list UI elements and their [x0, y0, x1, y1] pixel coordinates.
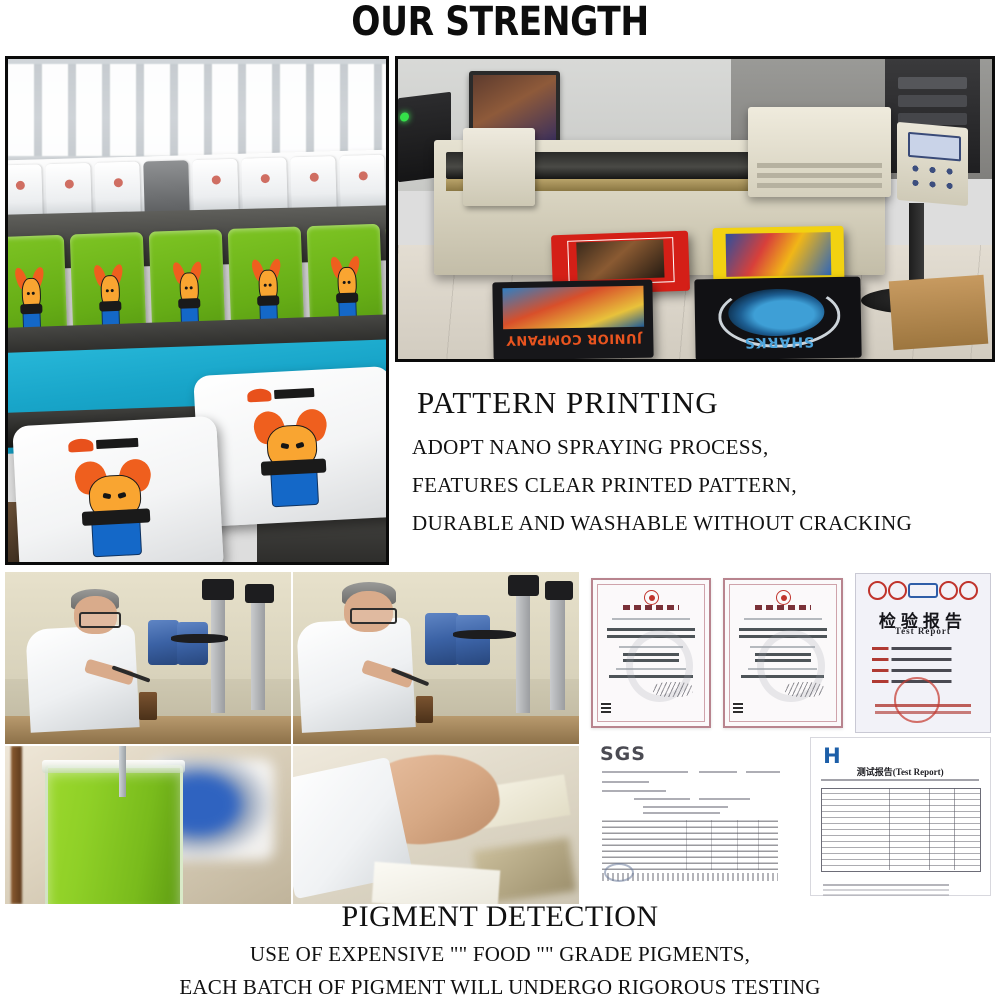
ccc-logo-icon — [868, 581, 887, 600]
printer-ink-cabinet — [748, 107, 891, 197]
bull-mascot-print — [253, 259, 280, 328]
pigment-line-2: EACH BATCH OF PIGMENT WILL UNDERGO RIGOR… — [0, 975, 1000, 1000]
iso-certificate-chinese — [591, 578, 710, 728]
h-results-table — [821, 788, 981, 872]
pattern-printing-text-block: PATTERN PRINTING ADOPT NANO SPRAYING PRO… — [395, 385, 995, 549]
shirt-text-sharks: SHARKS — [712, 332, 845, 352]
printer-print-head — [463, 128, 534, 206]
stirring-rod — [119, 746, 125, 797]
beaker-glass — [45, 765, 183, 904]
h-test-report: H 测试报告(Test Report) — [810, 737, 991, 897]
beaker-rim — [42, 760, 185, 773]
photo-flatbed-dtg-printer: JUNIOR COMPANY SHARKS — [395, 56, 995, 362]
lab-accreditation-logo-icon — [908, 583, 938, 598]
iso-certificate-english — [723, 578, 842, 728]
white-tshirt-back — [193, 366, 389, 527]
quality-logo-icon — [888, 581, 907, 600]
photo-green-pigment-beaker — [5, 746, 291, 904]
pattern-line-3: DURABLE AND WASHABLE WITHOUT CRACKING — [412, 511, 995, 536]
photo-hand-holding-sample — [293, 746, 579, 904]
documents-certificates-row: 检验报告 Test Report — [583, 573, 995, 733]
test-report-title-en: Test Report — [856, 626, 990, 636]
pigment-detection-text-block: PIGMENT DETECTION USE OF EXPENSIVE "" FO… — [0, 900, 1000, 1008]
inspection-logo-icon — [939, 581, 958, 600]
cnas-logo-icon — [959, 581, 978, 600]
photo-tshirt-printing-conveyor — [5, 56, 389, 565]
official-red-stamp — [894, 677, 940, 723]
printer-control-panel[interactable] — [897, 122, 968, 206]
chest-logo — [247, 383, 315, 405]
pattern-line-2: FEATURES CLEAR PRINTED PATTERN, — [412, 473, 995, 498]
white-tshirt-front — [12, 416, 224, 565]
h-report-title: 测试报告(Test Report) — [811, 765, 990, 778]
bull-mascot-print-large — [75, 459, 153, 556]
documents-reports-row: SGS H 测试报告(Test Report) — [583, 735, 995, 905]
printed-shirt-sharks: SHARKS — [694, 277, 862, 361]
cardboard-box — [889, 275, 989, 350]
photo-lab-technician-left — [5, 572, 291, 744]
bull-mascot-print — [174, 261, 201, 330]
sgs-test-report: SGS — [587, 738, 801, 894]
sgs-logo: SGS — [600, 743, 646, 765]
inspection-test-report: 检验报告 Test Report — [855, 573, 991, 733]
control-panel-keypad[interactable] — [904, 160, 961, 196]
printed-shirt-junior-company: JUNIOR COMPANY — [492, 280, 654, 361]
power-led-icon — [400, 112, 409, 122]
certification-logos — [868, 583, 978, 597]
chest-logo — [67, 434, 137, 456]
page-title: OUR STRENGTH — [70, 0, 930, 46]
pigment-line-1: USE OF EXPENSIVE "" FOOD "" GRADE PIGMEN… — [0, 942, 1000, 967]
pattern-printing-heading: PATTERN PRINTING — [417, 385, 995, 421]
pigment-detection-heading: PIGMENT DETECTION — [0, 900, 1000, 934]
bull-mascot-print-large — [254, 408, 330, 505]
photo-lab-technician-right — [293, 572, 579, 744]
sgs-results-table — [602, 820, 778, 870]
beaker-background-post — [11, 746, 22, 904]
control-panel-screen — [908, 132, 960, 161]
bull-mascot-print — [332, 256, 359, 325]
pattern-line-1: ADOPT NANO SPRAYING PROCESS, — [412, 435, 995, 460]
bull-mascot-print — [17, 267, 44, 336]
bull-mascot-print — [96, 264, 123, 333]
shirt-text-junior-company: JUNIOR COMPANY — [503, 328, 644, 351]
our-strength-page: OUR STRENGTH — [0, 0, 1000, 1000]
